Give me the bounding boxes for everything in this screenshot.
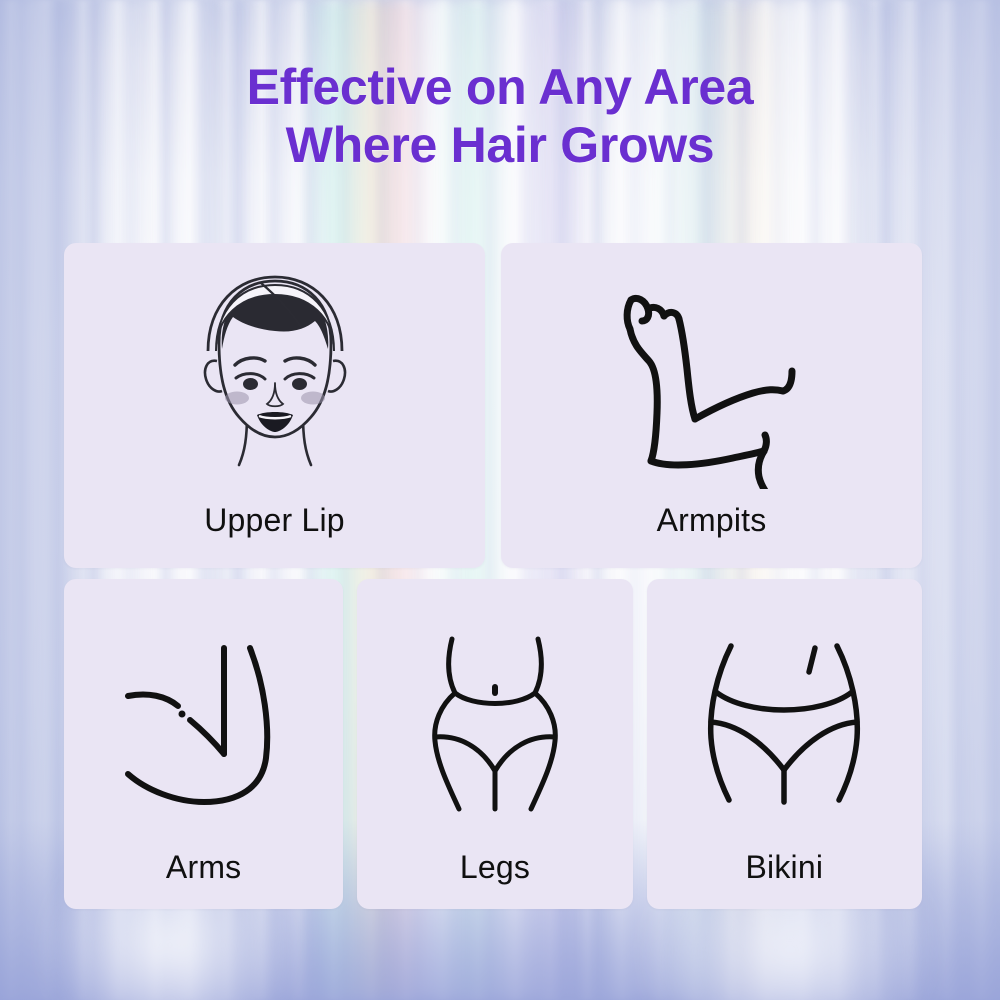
card-label-upper-lip: Upper Lip (204, 504, 345, 536)
woman-face-icon (175, 261, 375, 496)
card-label-armpits: Armpits (657, 504, 767, 536)
card-upper-lip[interactable]: Upper Lip (64, 243, 485, 568)
raised-arm-armpit-icon (607, 261, 817, 496)
flexed-arm-icon (114, 609, 294, 839)
treatment-area-row-top: Upper Lip (64, 243, 922, 568)
card-label-bikini: Bikini (745, 851, 823, 883)
card-label-legs: Legs (460, 851, 530, 883)
card-bikini[interactable]: Bikini (647, 579, 922, 909)
card-arms[interactable]: Arms (64, 579, 343, 909)
card-armpits[interactable]: Armpits (501, 243, 922, 568)
hips-legs-icon (405, 609, 585, 839)
treatment-area-row-bottom: Arms (64, 579, 922, 909)
card-legs[interactable]: Legs (357, 579, 632, 909)
treatment-area-grid: Upper Lip (64, 243, 922, 909)
bikini-line-icon (689, 609, 879, 839)
card-label-arms: Arms (166, 851, 241, 883)
